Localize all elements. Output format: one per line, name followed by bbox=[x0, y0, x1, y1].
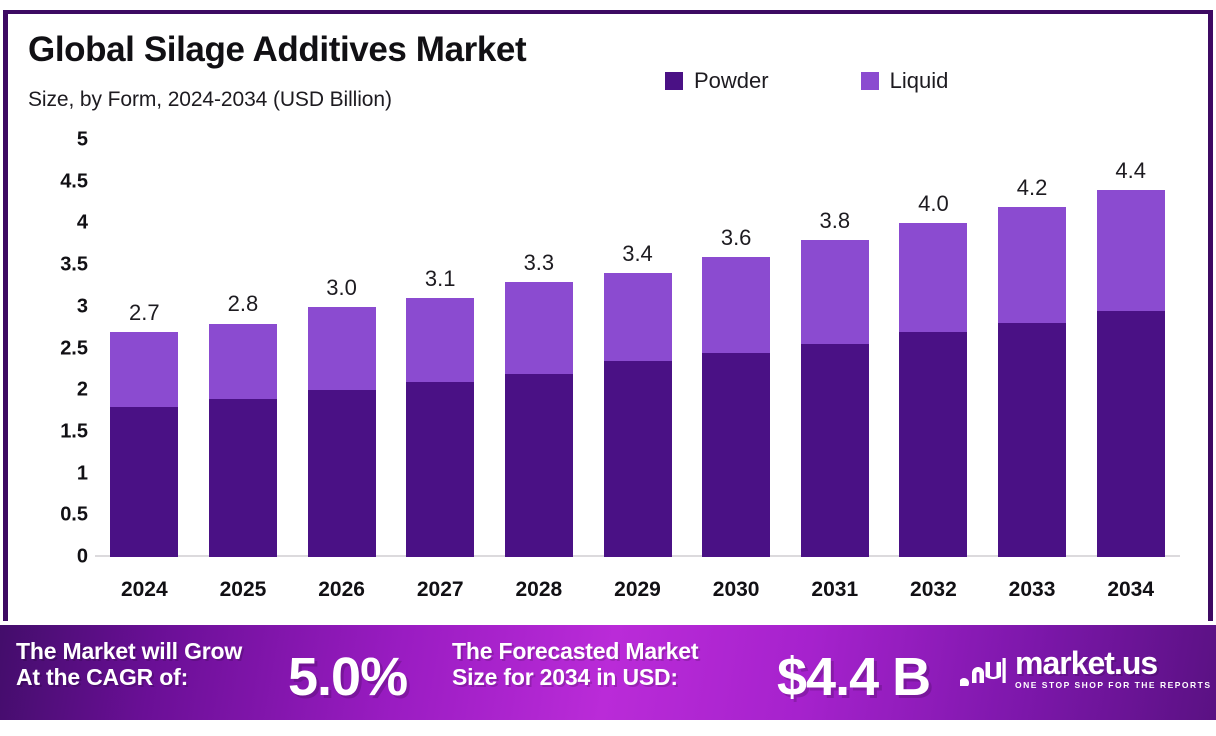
x-axis-label: 2024 bbox=[121, 578, 168, 602]
frame-border-top bbox=[3, 10, 1213, 14]
chart-legend: Powder Liquid bbox=[665, 68, 948, 94]
bar-segment-powder[interactable] bbox=[209, 399, 277, 557]
bar-segment-powder[interactable] bbox=[998, 323, 1066, 557]
bar-group[interactable]: 3.3 bbox=[505, 282, 573, 557]
bar-series-container: 2.72.83.03.13.33.43.63.84.04.24.4 bbox=[95, 140, 1180, 557]
market-us-logo-icon bbox=[960, 652, 1006, 686]
bar-segment-powder[interactable] bbox=[899, 332, 967, 557]
cagr-value: 5.0% bbox=[288, 650, 407, 704]
bar-segment-powder[interactable] bbox=[505, 374, 573, 557]
forecast-value: $4.4 B bbox=[777, 650, 930, 704]
frame-border-left bbox=[3, 10, 8, 621]
y-axis-label: 1.5 bbox=[60, 420, 88, 443]
bar-segment-liquid[interactable] bbox=[604, 273, 672, 361]
y-axis-label: 0 bbox=[77, 546, 88, 569]
x-axis-label: 2027 bbox=[417, 578, 464, 602]
x-axis-label: 2032 bbox=[910, 578, 957, 602]
legend-item-powder: Powder bbox=[665, 68, 769, 94]
y-axis-label: 0.5 bbox=[60, 504, 88, 527]
bar-group[interactable]: 3.1 bbox=[406, 298, 474, 557]
bar-segment-liquid[interactable] bbox=[899, 223, 967, 331]
legend-swatch-liquid-icon bbox=[861, 72, 879, 90]
bar-group[interactable]: 3.8 bbox=[801, 240, 869, 557]
y-axis-tick-labels: 00.511.522.533.544.55 bbox=[28, 129, 88, 569]
chart-subtitle: Size, by Form, 2024-2034 (USD Billion) bbox=[28, 88, 392, 112]
bar-segment-liquid[interactable] bbox=[801, 240, 869, 344]
bar-segment-powder[interactable] bbox=[406, 382, 474, 557]
bar-segment-liquid[interactable] bbox=[308, 307, 376, 390]
legend-label-powder: Powder bbox=[694, 68, 769, 94]
x-axis-label: 2026 bbox=[318, 578, 365, 602]
market-us-logo[interactable]: market.us ONE STOP SHOP FOR THE REPORTS bbox=[960, 648, 1212, 690]
y-axis-label: 1 bbox=[77, 462, 88, 485]
x-axis-label: 2033 bbox=[1009, 578, 1056, 602]
bar-segment-powder[interactable] bbox=[801, 344, 869, 557]
bar-group[interactable]: 4.0 bbox=[899, 223, 967, 557]
bar-group[interactable]: 4.2 bbox=[998, 207, 1066, 557]
bar-group[interactable]: 4.4 bbox=[1097, 190, 1165, 557]
bar-segment-powder[interactable] bbox=[702, 353, 770, 557]
bar-total-value-label: 3.6 bbox=[721, 225, 752, 251]
bar-total-value-label: 4.4 bbox=[1115, 158, 1146, 184]
chart-title: Global Silage Additives Market bbox=[28, 30, 526, 70]
x-axis-label: 2029 bbox=[614, 578, 661, 602]
bar-total-value-label: 3.4 bbox=[622, 241, 653, 267]
x-axis-label: 2025 bbox=[220, 578, 267, 602]
cagr-label: The Market will Grow At the CAGR of: bbox=[16, 638, 242, 691]
bar-total-value-label: 4.0 bbox=[918, 191, 949, 217]
bar-segment-powder[interactable] bbox=[110, 407, 178, 557]
bar-segment-liquid[interactable] bbox=[110, 332, 178, 407]
legend-swatch-powder-icon bbox=[665, 72, 683, 90]
x-axis-label: 2031 bbox=[811, 578, 858, 602]
x-axis-label: 2034 bbox=[1107, 578, 1154, 602]
bar-group[interactable]: 2.8 bbox=[209, 324, 277, 558]
bar-segment-powder[interactable] bbox=[604, 361, 672, 557]
bar-segment-liquid[interactable] bbox=[209, 324, 277, 399]
bar-segment-liquid[interactable] bbox=[505, 282, 573, 374]
y-axis-label: 4 bbox=[77, 212, 88, 235]
x-axis-label: 2030 bbox=[713, 578, 760, 602]
cagr-label-line2: At the CAGR of: bbox=[16, 664, 242, 690]
bar-total-value-label: 2.8 bbox=[228, 291, 259, 317]
logo-text-block: market.us ONE STOP SHOP FOR THE REPORTS bbox=[1015, 648, 1212, 690]
logo-wordmark: market.us bbox=[1015, 648, 1212, 678]
bar-group[interactable]: 3.4 bbox=[604, 273, 672, 557]
bar-segment-liquid[interactable] bbox=[998, 207, 1066, 324]
y-axis-label: 3.5 bbox=[60, 254, 88, 277]
x-axis-label: 2028 bbox=[516, 578, 563, 602]
plot-area: 2.72.83.03.13.33.43.63.84.04.24.4 bbox=[95, 140, 1180, 557]
bar-total-value-label: 4.2 bbox=[1017, 175, 1048, 201]
bar-total-value-label: 2.7 bbox=[129, 300, 160, 326]
y-axis-label: 4.5 bbox=[60, 170, 88, 193]
infographic-chart-page: Global Silage Additives Market Size, by … bbox=[0, 0, 1216, 736]
bar-total-value-label: 3.0 bbox=[326, 275, 357, 301]
frame-border-right bbox=[1208, 10, 1213, 621]
x-axis-tick-labels: 2024202520262027202820292030203120322033… bbox=[95, 578, 1180, 608]
bar-group[interactable]: 3.0 bbox=[308, 307, 376, 557]
bar-segment-liquid[interactable] bbox=[702, 257, 770, 353]
bar-segment-powder[interactable] bbox=[1097, 311, 1165, 557]
bar-total-value-label: 3.8 bbox=[819, 208, 850, 234]
logo-tagline: ONE STOP SHOP FOR THE REPORTS bbox=[1015, 680, 1212, 690]
forecast-label: The Forecasted Market Size for 2034 in U… bbox=[452, 638, 698, 691]
bar-group[interactable]: 2.7 bbox=[110, 332, 178, 557]
y-axis-label: 2 bbox=[77, 379, 88, 402]
bar-segment-liquid[interactable] bbox=[1097, 190, 1165, 311]
y-axis-label: 3 bbox=[77, 295, 88, 318]
bar-total-value-label: 3.3 bbox=[524, 250, 555, 276]
y-axis-label: 2.5 bbox=[60, 337, 88, 360]
legend-item-liquid: Liquid bbox=[861, 68, 949, 94]
bar-segment-liquid[interactable] bbox=[406, 298, 474, 381]
forecast-label-line1: The Forecasted Market bbox=[452, 638, 698, 664]
forecast-label-line2: Size for 2034 in USD: bbox=[452, 664, 698, 690]
cagr-label-line1: The Market will Grow bbox=[16, 638, 242, 664]
bar-group[interactable]: 3.6 bbox=[702, 257, 770, 557]
legend-label-liquid: Liquid bbox=[890, 68, 949, 94]
bar-total-value-label: 3.1 bbox=[425, 266, 456, 292]
bar-segment-powder[interactable] bbox=[308, 390, 376, 557]
y-axis-label: 5 bbox=[77, 129, 88, 152]
